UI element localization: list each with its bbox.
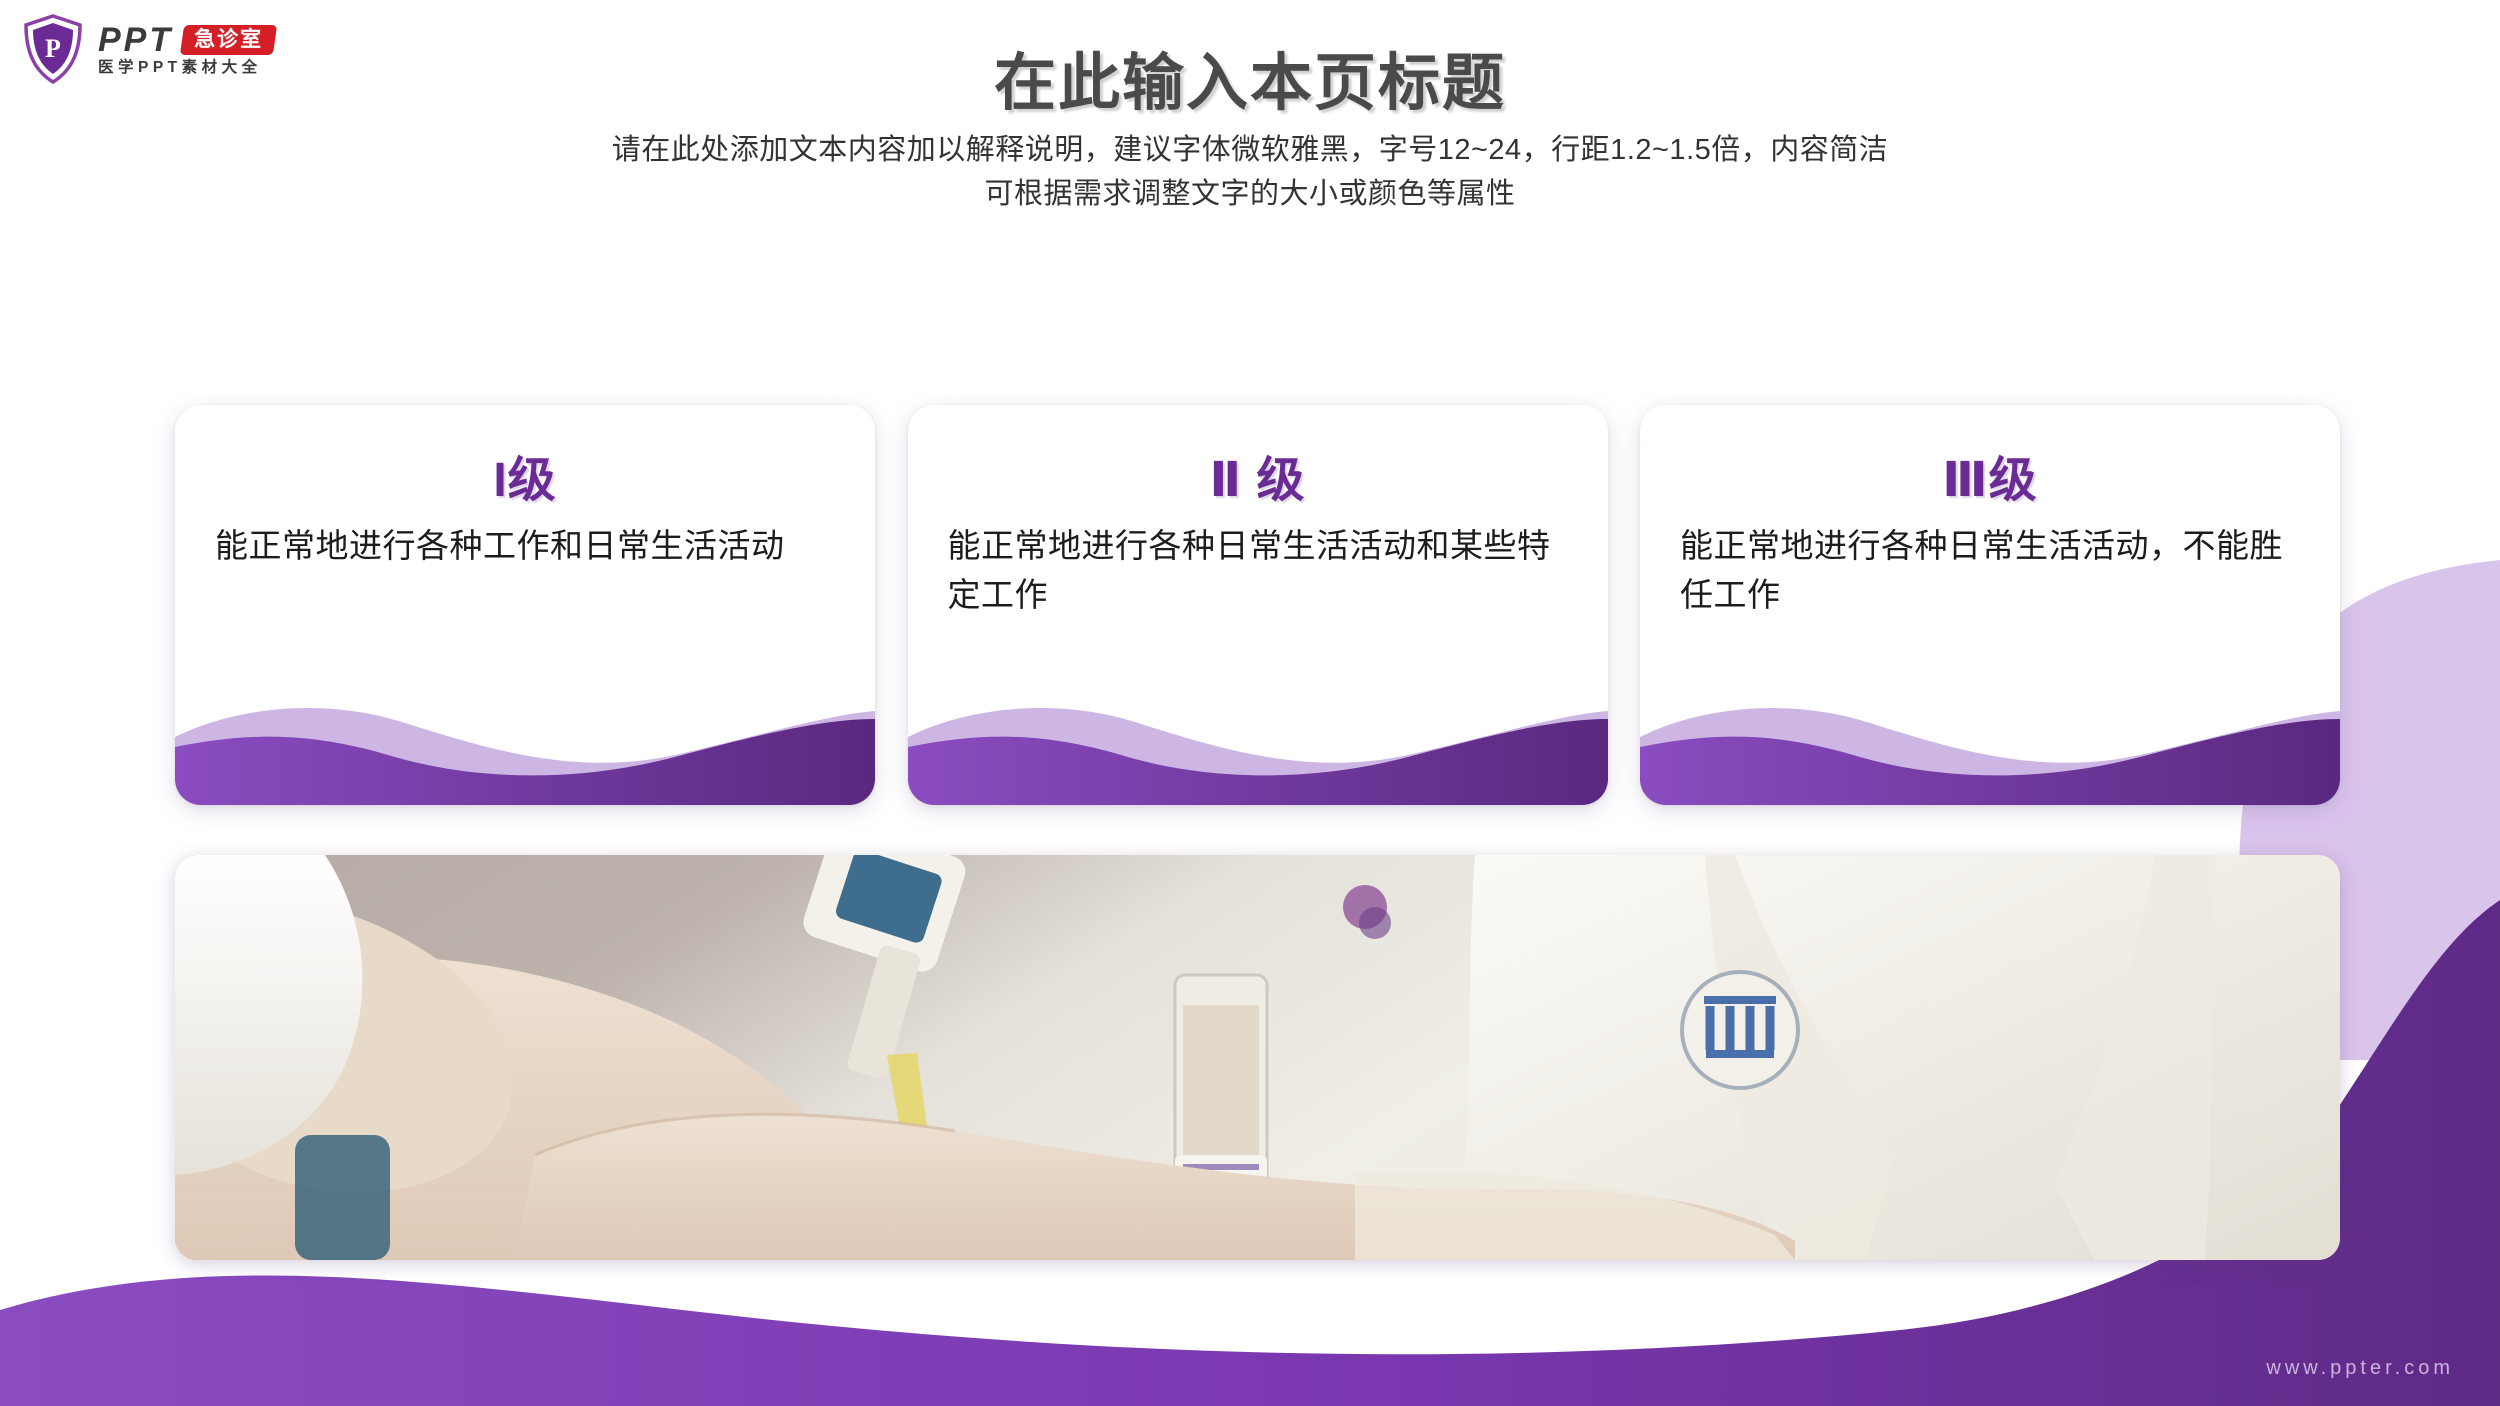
shield-icon: P [22, 14, 84, 84]
page-subtitle: 请在此处添加文本内容加以解释说明，建议字体微软雅黑，字号12~24，行距1.2~… [0, 128, 2500, 216]
page-title: 在此输入本页标题 [0, 32, 2500, 122]
content-photo [175, 855, 2340, 1260]
grade-card-2[interactable]: Ⅱ 级 能正常地进行各种日常生活活动和某些特定工作 [908, 405, 1608, 805]
brand-logo[interactable]: P PPT 急诊室 医学PPT素材大全 [22, 14, 275, 84]
grade-card-1-title: I级 [175, 455, 875, 508]
grade-card-list: I级 能正常地进行各种工作和日常生活活动 Ⅱ 级 能正常地进行各种日常生活活动和… [175, 405, 2340, 805]
page-subtitle-line-1: 请在此处添加文本内容加以解释说明，建议字体微软雅黑，字号12~24，行距1.2~… [0, 128, 2500, 172]
grade-card-3-body: 能正常地进行各种日常生活活动，不能胜任工作 [1680, 522, 2300, 620]
grade-card-1-body: 能正常地进行各种工作和日常生活活动 [215, 522, 835, 571]
card-wave-decoration [908, 685, 1608, 805]
logo-wordmark: PPT [98, 23, 173, 57]
glove-band [295, 1135, 390, 1260]
card-wave-decoration [175, 685, 875, 805]
shield-letter: P [45, 34, 61, 63]
logo-badge: 急诊室 [180, 25, 277, 55]
grade-card-1[interactable]: I级 能正常地进行各种工作和日常生活活动 [175, 405, 875, 805]
coat-emblem [1682, 972, 1798, 1088]
card-wave-decoration [1640, 685, 2340, 805]
logo-tagline: 医学PPT素材大全 [98, 60, 275, 76]
grade-card-2-body: 能正常地进行各种日常生活活动和某些特定工作 [948, 522, 1568, 620]
logo-badge-label: 急诊室 [194, 29, 263, 50]
grade-card-3[interactable]: Ⅲ级 能正常地进行各种日常生活活动，不能胜任工作 [1640, 405, 2340, 805]
grade-card-2-title: Ⅱ 级 [908, 455, 1608, 508]
grade-card-3-title: Ⅲ级 [1640, 455, 2340, 508]
site-url: www.ppter.com [2266, 1357, 2454, 1380]
page-subtitle-line-2: 可根据需求调整文字的大小或颜色等属性 [0, 172, 2500, 216]
